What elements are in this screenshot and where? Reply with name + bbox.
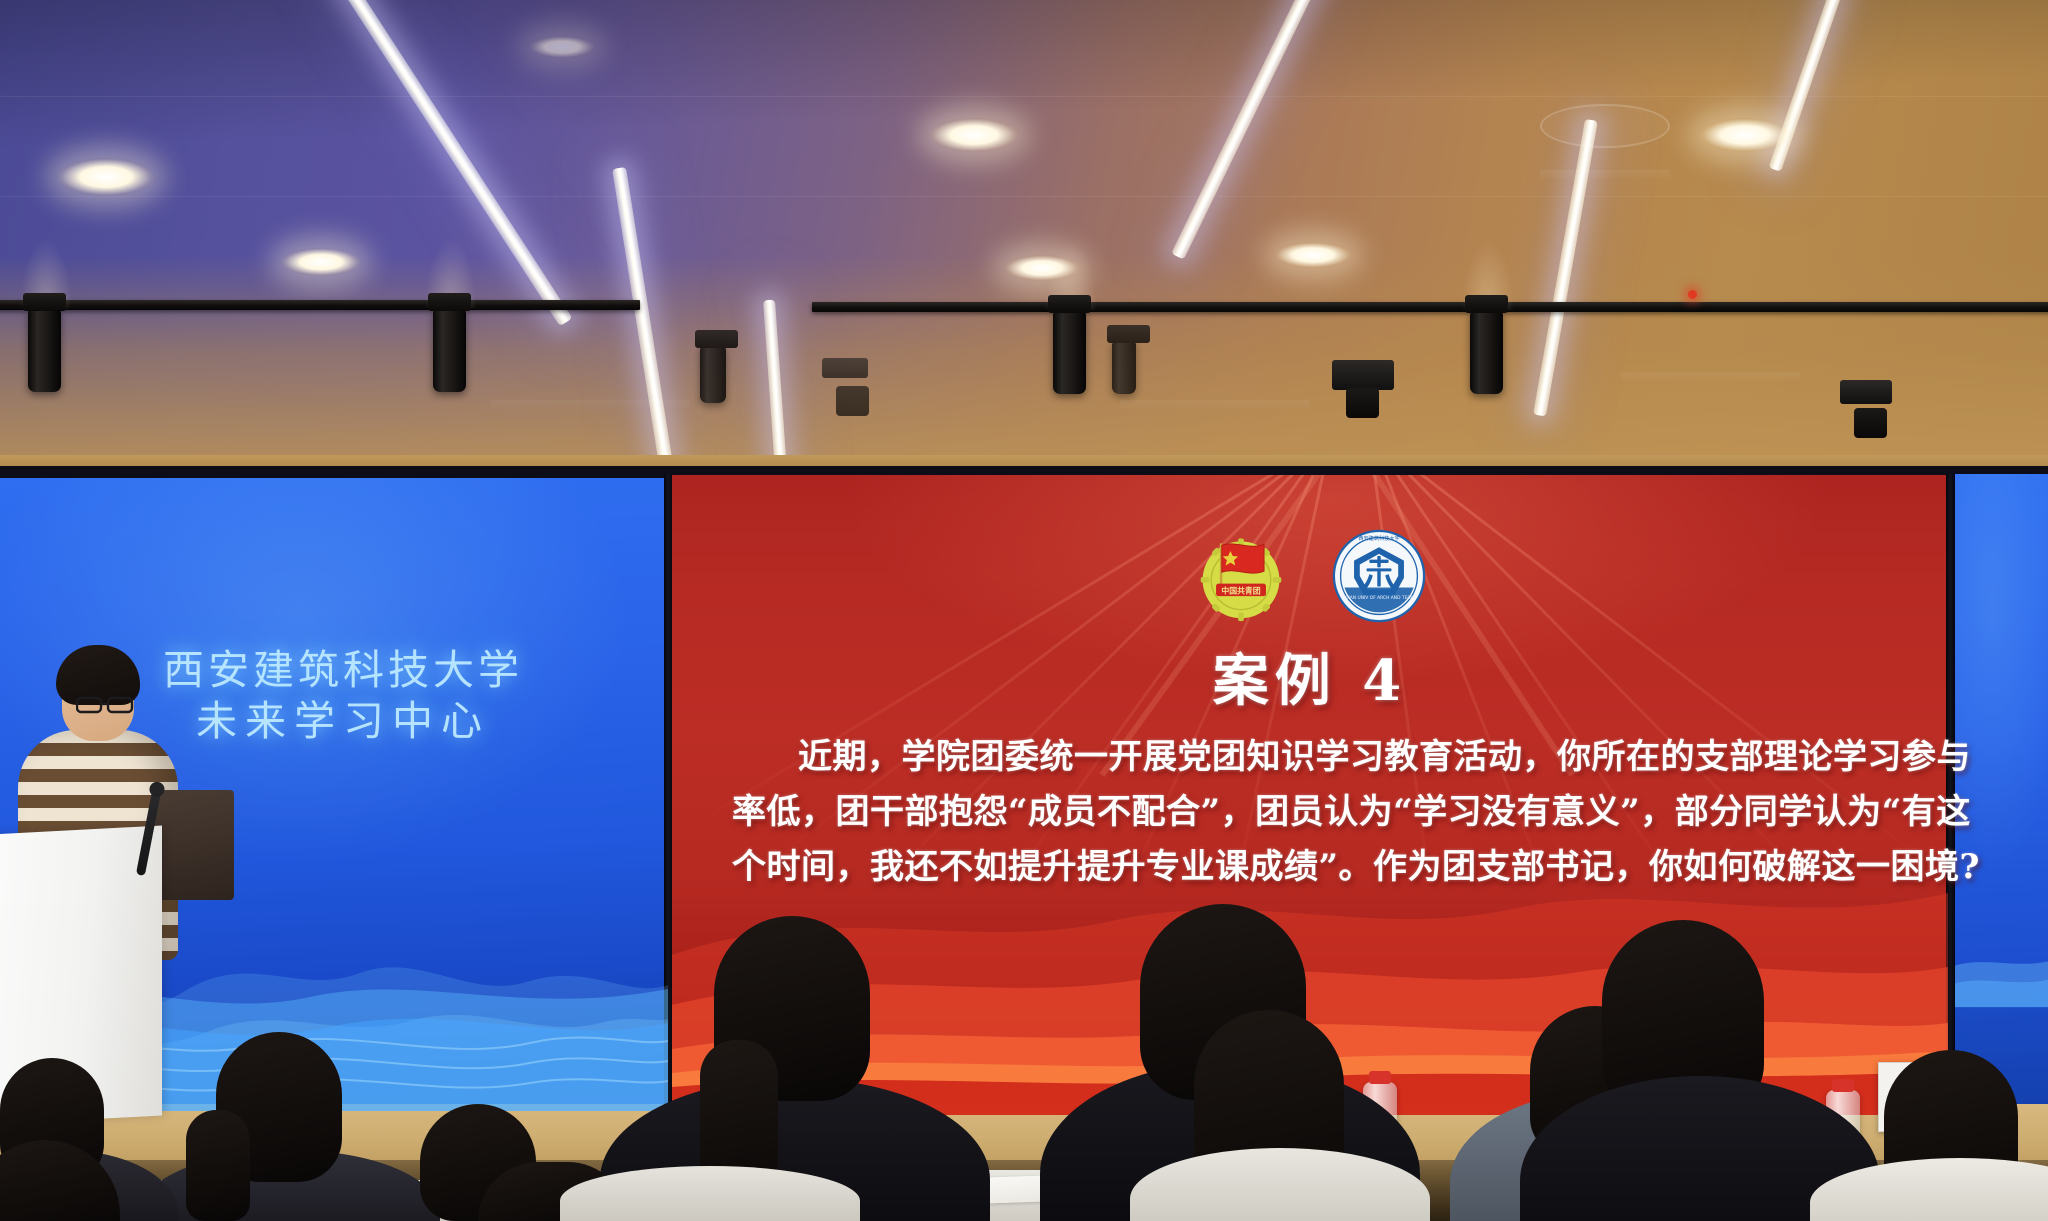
downlight: [930, 118, 1018, 152]
svg-text:中国共青团: 中国共青团: [1221, 585, 1260, 595]
case-title: 案例 4: [672, 636, 1948, 717]
lighting-track-rail: [0, 300, 640, 310]
downlight: [58, 158, 154, 196]
presenter-device: [152, 790, 234, 900]
downlight: [1700, 118, 1790, 152]
svg-text:西安建筑科技大学: 西安建筑科技大学: [1358, 534, 1399, 542]
track-spotlight: [1470, 310, 1503, 394]
ceiling-vent: [1620, 372, 1800, 381]
track-spotlight: [28, 308, 61, 392]
audience-hair-strand: [186, 1110, 250, 1221]
ceiling-projector: [822, 358, 868, 378]
ceiling-vent: [1540, 170, 1670, 179]
track-spotlight: [1112, 340, 1136, 394]
emblem-row: 中国共青团 XI'AN UNIV OF ARCH AND TECH 西安建筑科技…: [672, 528, 1948, 624]
track-spotlight: [1053, 310, 1086, 394]
lighting-track-rail: [812, 302, 2048, 312]
screenshot-root: 西安建筑科技大学 未来学习中心: [0, 0, 2048, 1221]
led-strip-light: [1171, 0, 1328, 260]
downlight-ring: [1540, 104, 1670, 148]
ceiling-vent: [1120, 400, 1310, 409]
case-body-line: 个时间，我还不如提升提升专业课成绩”。作为团支部书记，你如何破解这一困境?: [732, 840, 1892, 895]
ceiling-vent: [490, 400, 690, 409]
downlight: [282, 248, 360, 276]
case-body-line: 率低，团干部抱怨“成员不配合”，团员认为“学习没有意义”，部分同学认为“有这: [732, 785, 1892, 840]
svg-text:XI'AN UNIV OF ARCH AND TECH: XI'AN UNIV OF ARCH AND TECH: [1344, 595, 1414, 601]
status-indicator-light: [1688, 290, 1697, 299]
led-strip-light: [1768, 0, 1842, 172]
university-emblem: XI'AN UNIV OF ARCH AND TECH 西安建筑科技大学: [1331, 528, 1427, 624]
downlight: [530, 36, 594, 58]
case-body-text: 近期，学院团委统一开展党团知识学习教育活动，你所在的支部理论学习参与 率低，团干…: [732, 730, 1892, 895]
track-spotlight: [700, 345, 726, 403]
ceiling: [0, 0, 2048, 466]
eyeglasses-icon: [76, 695, 138, 715]
downlight: [1275, 242, 1351, 268]
case-body-line: 近期，学院团委统一开展党团知识学习教育活动，你所在的支部理论学习参与: [732, 730, 1892, 785]
ceiling-projector: [1840, 380, 1892, 404]
track-spotlight: [433, 308, 466, 392]
communist-youth-league-emblem: 中国共青团: [1193, 528, 1289, 624]
ceiling-projector: [1332, 360, 1394, 390]
